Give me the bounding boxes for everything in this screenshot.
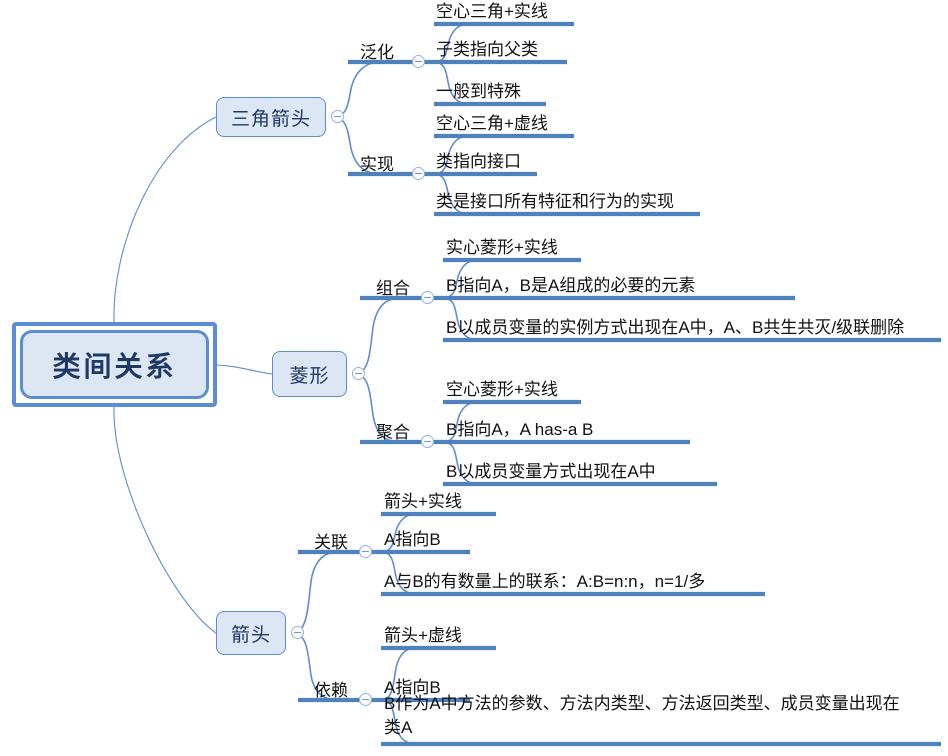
leaf-item[interactable]: A指向B [384, 528, 441, 552]
branch-node-triangle[interactable]: 三角箭头 [216, 97, 326, 137]
group-label-dependency[interactable]: 依赖 [314, 676, 348, 701]
minus-circle-icon-branch-diamond[interactable] [352, 367, 365, 380]
group-label-association[interactable]: 关联 [314, 528, 348, 553]
leaf-item[interactable]: 空心三角+实线 [436, 0, 548, 24]
leaf-item[interactable]: 类指向接口 [436, 150, 521, 174]
leaf-item[interactable]: B以成员变量的实例方式出现在A中，A、B共生共灭/级联删除 [446, 316, 904, 340]
leaf-item[interactable]: 箭头+实线 [384, 490, 462, 514]
root-node-inner: 类间关系 [20, 330, 209, 399]
minus-circle-icon-composition[interactable] [421, 291, 434, 304]
leaf-item[interactable]: 子类指向父类 [436, 38, 538, 62]
leaf-item[interactable]: B作为A中方法的参数、方法内类型、方法返回类型、成员变量出现在类A [384, 692, 904, 740]
leaf-item[interactable]: B指向A，B是A组成的必要的元素 [446, 274, 695, 298]
leaf-item[interactable]: 一般到特殊 [436, 80, 521, 104]
leaf-item[interactable]: 实心菱形+实线 [446, 236, 558, 260]
leaf-item[interactable]: 箭头+虚线 [384, 624, 462, 648]
leaf-item[interactable]: 空心三角+虚线 [436, 112, 548, 136]
minus-circle-icon-realization[interactable] [412, 167, 425, 180]
minus-circle-icon-branch-arrow[interactable] [291, 626, 304, 639]
group-label-aggregation[interactable]: 聚合 [376, 418, 410, 443]
group-label-generalization[interactable]: 泛化 [360, 38, 394, 63]
group-label-composition[interactable]: 组合 [376, 274, 410, 299]
root-label: 类间关系 [52, 345, 176, 385]
leaf-item[interactable]: B以成员变量方式出现在A中 [446, 460, 656, 484]
branch-node-diamond[interactable]: 菱形 [272, 351, 347, 397]
leaf-item[interactable]: 类是接口所有特征和行为的实现 [436, 190, 674, 214]
leaf-item[interactable]: B指向A，A has-a B [446, 418, 593, 442]
leaf-item[interactable]: 空心菱形+实线 [446, 378, 558, 402]
root-node[interactable]: 类间关系 [12, 322, 217, 407]
leaf-item[interactable]: A与B的有数量上的联系：A:B=n:n，n=1/多 [384, 570, 705, 594]
minus-circle-icon-aggregation[interactable] [421, 435, 434, 448]
branch-node-arrow[interactable]: 箭头 [216, 611, 286, 655]
minus-circle-icon-dependency[interactable] [359, 693, 372, 706]
group-label-realization[interactable]: 实现 [360, 150, 394, 175]
minus-circle-icon-association[interactable] [359, 545, 372, 558]
minus-circle-icon-generalization[interactable] [412, 55, 425, 68]
minus-circle-icon-branch-triangle[interactable] [331, 110, 344, 123]
